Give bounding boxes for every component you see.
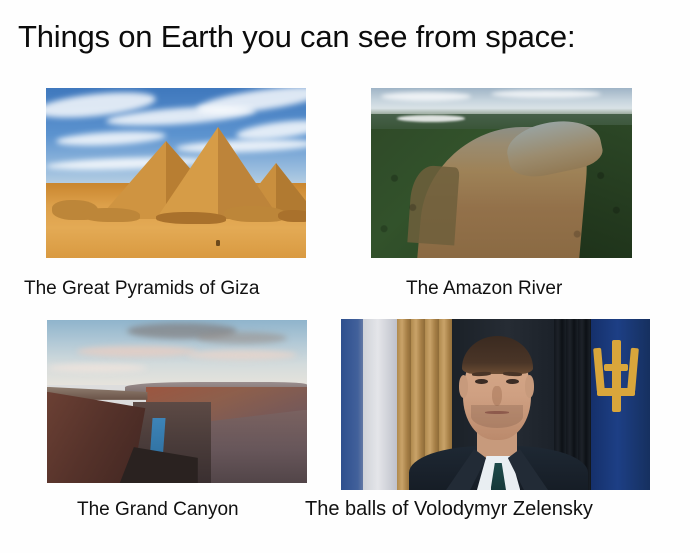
cloud-shape	[197, 332, 287, 344]
cloud-shape	[77, 346, 197, 357]
photo-amazon-river	[371, 88, 632, 258]
cloud-shape	[47, 364, 147, 372]
caption-balls-of-volodymyr-zelensky: The balls of Volodymyr Zelensky	[305, 497, 593, 521]
distant-figure	[216, 240, 220, 246]
photo-volodymyr-zelensky-portrait	[341, 319, 650, 490]
flag-white-stripe	[363, 319, 400, 490]
pyramid-middle-shadow-face	[218, 124, 280, 219]
cloud-shape	[187, 350, 297, 360]
sandbar	[397, 115, 465, 122]
desert-rubble	[82, 208, 140, 222]
meme-title: Things on Earth you can see from space:	[18, 18, 688, 56]
photo-grand-canyon	[47, 320, 307, 483]
ukrainian-trident-icon	[591, 340, 641, 418]
ear-right	[525, 375, 534, 397]
cloud-shape	[491, 90, 601, 98]
photo-great-pyramids-of-giza	[46, 88, 306, 258]
desert-rubble	[278, 210, 306, 222]
cloud-shape	[381, 92, 471, 101]
desert-rubble	[156, 212, 226, 224]
meme-image: Things on Earth you can see from space: …	[0, 0, 700, 553]
desert-rubble	[224, 206, 286, 222]
caption-great-pyramids-of-giza: The Great Pyramids of Giza	[24, 277, 259, 301]
caption-grand-canyon: The Grand Canyon	[77, 498, 239, 522]
caption-amazon-river: The Amazon River	[406, 277, 562, 301]
